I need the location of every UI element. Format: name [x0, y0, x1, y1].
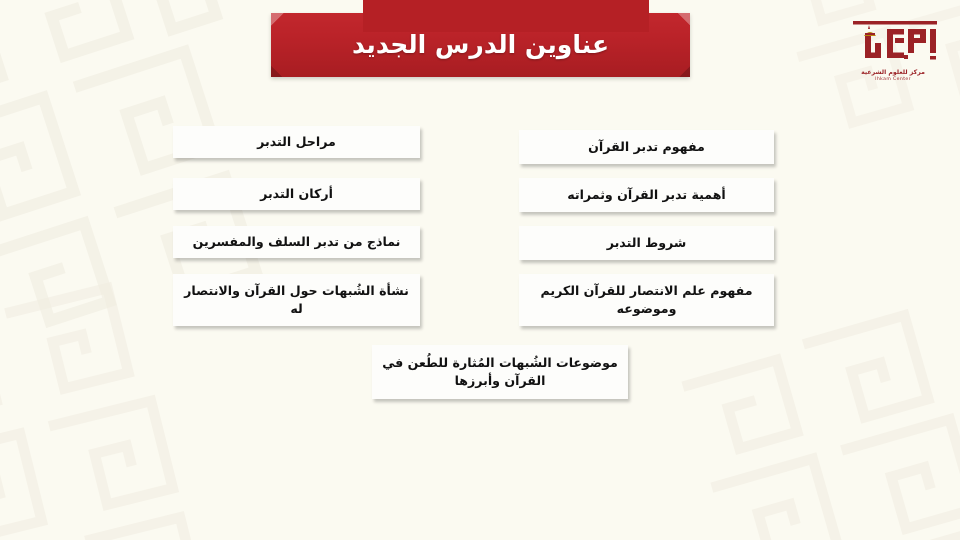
topic-card[interactable]: أركان التدبر	[173, 178, 420, 210]
topic-card[interactable]: أهمية تدبر القرآن وثمراته	[519, 178, 774, 212]
presentation-slide: عناوين الدرس الجديد	[0, 0, 960, 540]
ihkam-logo: مركز للعلوم الشرعية Ihkam Center	[840, 18, 946, 96]
topic-card[interactable]: مفهوم علم الانتصار للقرآن الكريم وموضوعه	[519, 274, 774, 326]
logo-subtitle-arabic: مركز للعلوم الشرعية	[840, 69, 946, 77]
page-title: عناوين الدرس الجديد	[271, 13, 690, 77]
topic-card[interactable]: نشأة الشُبهات حول القرآن والانتصار له	[173, 274, 420, 326]
topic-card[interactable]: شروط التدبر	[519, 226, 774, 260]
topic-card[interactable]: موضوعات الشُبهات المُثارة للطُعن في القر…	[372, 345, 628, 399]
topic-card[interactable]: مفهوم تدبر القرآن	[519, 130, 774, 164]
logo-subtitle-english: Ihkam Center	[840, 77, 946, 83]
title-banner: عناوين الدرس الجديد	[271, 13, 690, 77]
ihkam-wordmark-icon	[845, 18, 941, 68]
topic-card[interactable]: مراحل التدبر	[173, 126, 420, 158]
topic-card[interactable]: نماذج من تدبر السلف والمفسرين	[173, 226, 420, 258]
